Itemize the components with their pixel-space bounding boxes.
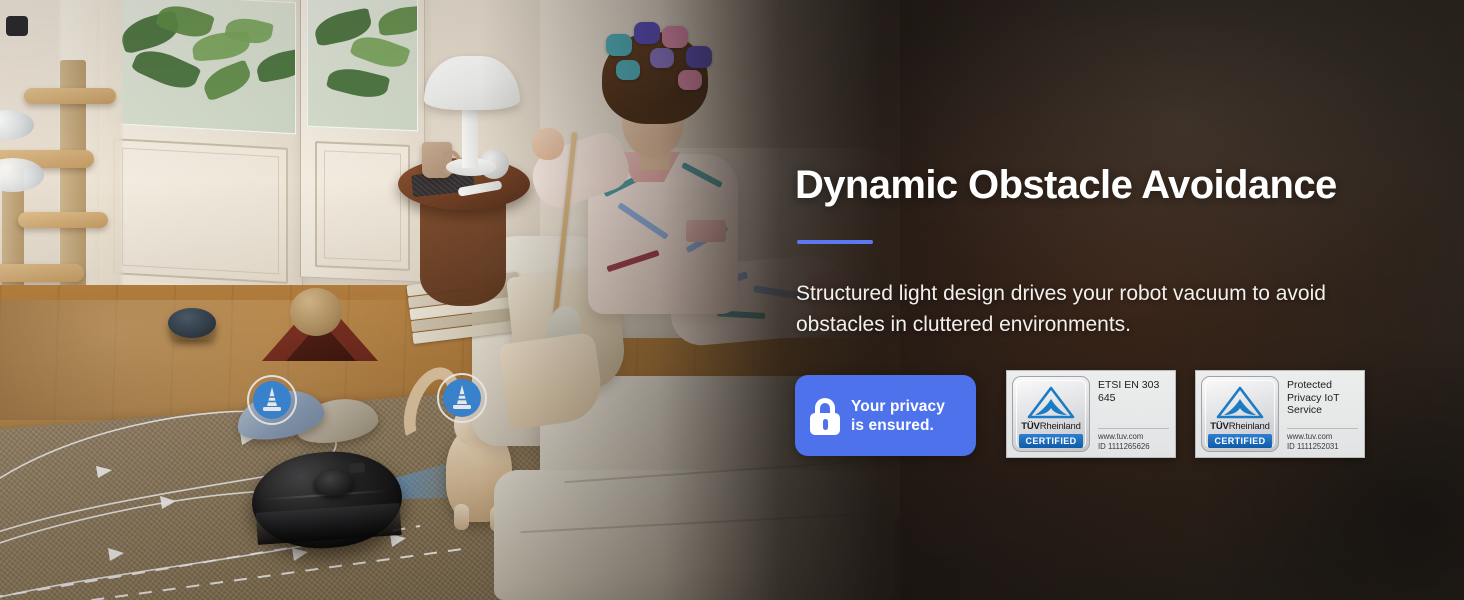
certification-standard: Protected Privacy IoT Service: [1287, 379, 1358, 426]
certification-footer: www.tuv.com ID 1111252031: [1287, 428, 1358, 452]
certification-badge-etsi: TÜVRheinland CERTIFIED ETSI EN 303 645 w…: [1006, 370, 1176, 458]
tuv-triangle-icon: [1215, 386, 1265, 420]
tuv-brand-text: TÜVRheinland: [1021, 421, 1080, 432]
certified-label: CERTIFIED: [1208, 434, 1272, 448]
accent-rule: [797, 240, 873, 244]
coffee-mug: [422, 142, 452, 178]
certification-badge-privacy-iot: TÜVRheinland CERTIFIED Protected Privacy…: [1195, 370, 1365, 458]
obstacle-marker-cat[interactable]: [436, 372, 488, 424]
privacy-badge[interactable]: Your privacy is ensured.: [795, 375, 976, 456]
tuv-triangle-icon: [1026, 386, 1076, 420]
table-leg: [420, 194, 506, 306]
traffic-cone-icon: [246, 374, 298, 426]
hair-roller: [606, 34, 632, 56]
banner-content: Dynamic Obstacle Avoidance Structured li…: [795, 0, 1395, 600]
page-title: Dynamic Obstacle Avoidance: [795, 163, 1337, 208]
product-feature-banner: Dynamic Obstacle Avoidance Structured li…: [0, 0, 1464, 600]
certification-standard: ETSI EN 303 645: [1098, 379, 1169, 426]
scratching-ball: [290, 288, 342, 336]
obstacle-marker-slippers[interactable]: [246, 374, 298, 426]
pet-bowl: [168, 308, 216, 338]
certification-id: ID 1111265626: [1098, 442, 1169, 452]
tuv-rheinland-logo: TÜVRheinland CERTIFIED: [1201, 376, 1279, 452]
certification-footer: www.tuv.com ID 1111265626: [1098, 428, 1169, 452]
woman-hand: [532, 128, 564, 160]
hair-roller: [650, 48, 674, 68]
certification-details: Protected Privacy IoT Service www.tuv.co…: [1279, 371, 1364, 457]
privacy-line-1: Your privacy: [851, 397, 945, 416]
privacy-line-2: is ensured.: [851, 416, 945, 435]
tuv-rheinland-logo: TÜVRheinland CERTIFIED: [1012, 376, 1090, 452]
subtitle-text: Structured light design drives your robo…: [796, 278, 1376, 340]
lamp-stem: [462, 106, 478, 168]
pajama-pocket: [686, 220, 726, 242]
traffic-cone-icon: [436, 372, 488, 424]
woman-on-sofa: [510, 14, 830, 354]
cat-leg: [454, 504, 469, 530]
lock-icon: [809, 398, 841, 434]
certification-website: www.tuv.com: [1287, 432, 1358, 442]
hair-roller: [616, 60, 640, 80]
hair-roller: [678, 70, 702, 90]
tuv-brand-text: TÜVRheinland: [1210, 421, 1269, 432]
certification-website: www.tuv.com: [1098, 432, 1169, 442]
hair-roller: [686, 46, 712, 68]
certification-details: ETSI EN 303 645 www.tuv.com ID 111126562…: [1090, 371, 1175, 457]
hair-roller: [662, 26, 688, 48]
robot-sensor-window: [349, 463, 366, 474]
door-panel-right: [315, 141, 410, 271]
hair-roller: [634, 22, 660, 44]
certification-id: ID 1111252031: [1287, 442, 1358, 452]
certified-label: CERTIFIED: [1019, 434, 1083, 448]
window-glass-right: [307, 0, 418, 131]
privacy-badge-text: Your privacy is ensured.: [851, 397, 945, 435]
